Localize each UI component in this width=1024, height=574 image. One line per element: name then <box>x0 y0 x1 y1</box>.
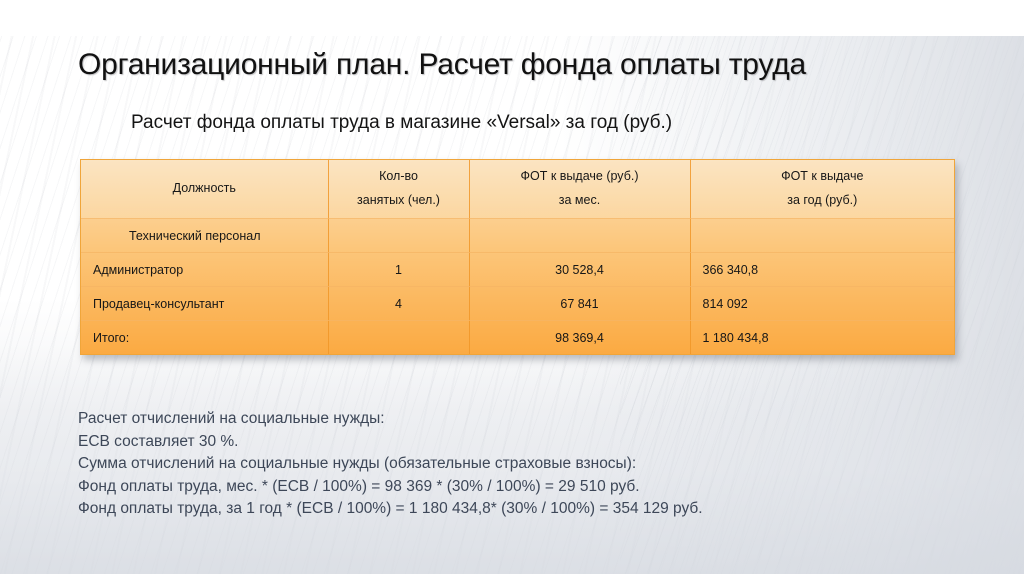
notes-line-3: Сумма отчислений на социальные нужды (об… <box>78 453 703 476</box>
row-count: 1 <box>328 253 469 287</box>
header-cell-year: ФОТ к выдаче за год (руб.) <box>690 160 954 219</box>
total-year: 1 180 434,8 <box>690 321 954 355</box>
notes-line-2: ЕСВ составляет 30 %. <box>78 431 703 454</box>
payroll-table-container: Должность Кол-во занятых (чел.) ФОТ к вы… <box>80 159 955 355</box>
slide-title: Организационный план. Расчет фонда оплат… <box>78 48 978 82</box>
table-row: Продавец-консультант 4 67 841 814 092 <box>81 287 954 321</box>
notes-line-5: Фонд оплаты труда, за 1 год * (ЕСВ / 100… <box>78 498 703 521</box>
header-count-line1: Кол-во <box>341 165 457 189</box>
header-cell-month: ФОТ к выдаче (руб.) за мес. <box>469 160 690 219</box>
table-caption: Расчет фонда оплаты труда в магазине «Ve… <box>131 112 672 134</box>
group-empty-month <box>469 219 690 253</box>
row-position: Продавец-консультант <box>81 287 328 321</box>
table-header-row: Должность Кол-во занятых (чел.) ФОТ к вы… <box>81 160 954 219</box>
group-empty-count <box>328 219 469 253</box>
notes-line-4: Фонд оплаты труда, мес. * (ЕСВ / 100%) =… <box>78 476 703 499</box>
row-position: Администратор <box>81 253 328 287</box>
table-row: Администратор 1 30 528,4 366 340,8 <box>81 253 954 287</box>
notes-line-1: Расчет отчислений на социальные нужды: <box>78 408 703 431</box>
background-top-band <box>0 0 1024 36</box>
header-year-line1: ФОТ к выдаче <box>703 165 943 189</box>
header-position-line1: Должность <box>93 177 316 201</box>
row-count: 4 <box>328 287 469 321</box>
header-cell-position: Должность <box>81 160 328 219</box>
row-month: 67 841 <box>469 287 690 321</box>
row-year: 814 092 <box>690 287 954 321</box>
total-count <box>328 321 469 355</box>
row-year: 366 340,8 <box>690 253 954 287</box>
notes-block: Расчет отчислений на социальные нужды: Е… <box>78 408 703 521</box>
group-label-cell: Технический персонал <box>81 219 328 253</box>
header-month-line2: за мес. <box>482 189 678 213</box>
payroll-table: Должность Кол-во занятых (чел.) ФОТ к вы… <box>81 160 954 354</box>
row-month: 30 528,4 <box>469 253 690 287</box>
table-group-row: Технический персонал <box>81 219 954 253</box>
total-label: Итого: <box>81 321 328 355</box>
header-cell-count: Кол-во занятых (чел.) <box>328 160 469 219</box>
total-month: 98 369,4 <box>469 321 690 355</box>
group-empty-year <box>690 219 954 253</box>
header-year-line2: за год (руб.) <box>703 189 943 213</box>
header-month-line1: ФОТ к выдаче (руб.) <box>482 165 678 189</box>
slide-canvas: Организационный план. Расчет фонда оплат… <box>0 0 1024 574</box>
table-total-row: Итого: 98 369,4 1 180 434,8 <box>81 321 954 355</box>
header-count-line2: занятых (чел.) <box>341 189 457 213</box>
